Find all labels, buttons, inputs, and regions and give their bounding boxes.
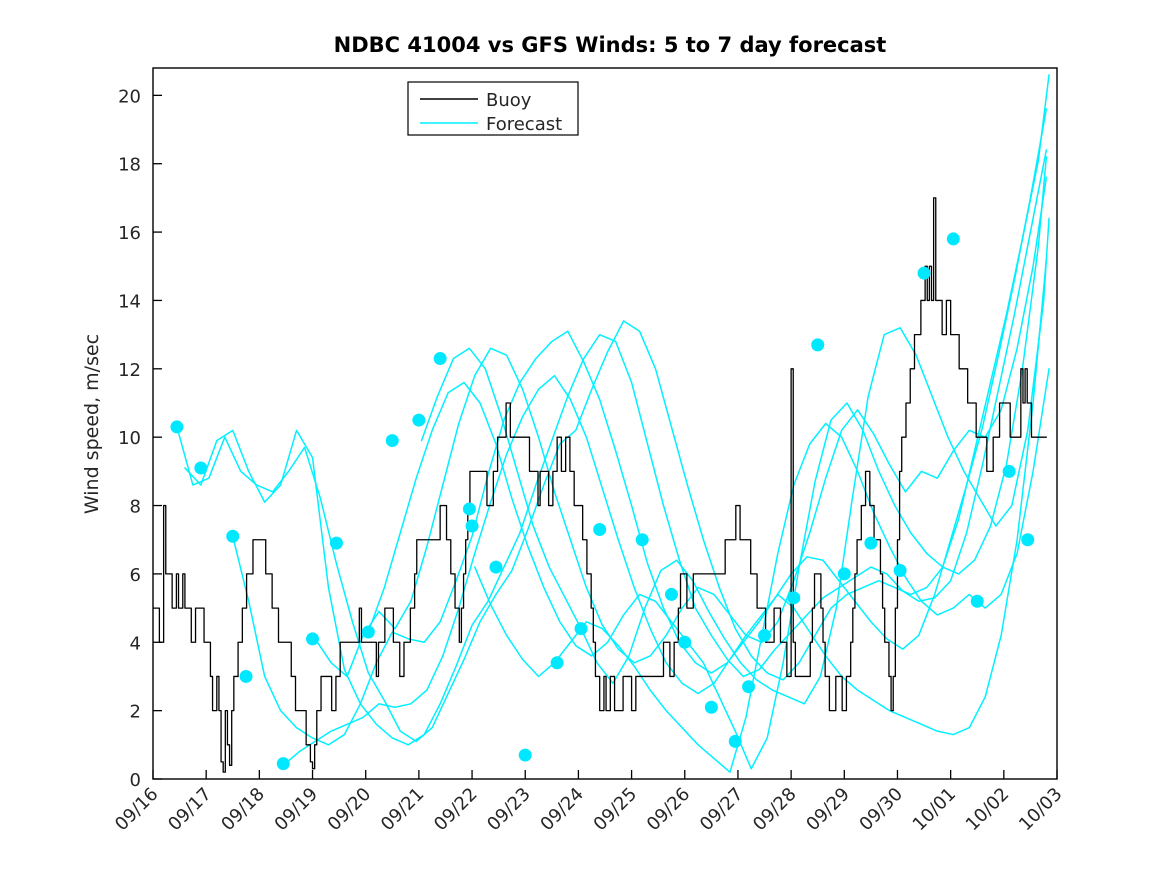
forecast-marker-point (838, 567, 851, 580)
y-tick-label: 14 (118, 291, 141, 312)
forecast-marker-point (386, 434, 399, 447)
forecast-marker-point (894, 564, 907, 577)
legend-label-forecast: Forecast (486, 114, 562, 135)
forecast-marker-point (665, 588, 678, 601)
figure-background (0, 0, 1167, 875)
forecast-marker-point (811, 338, 824, 351)
forecast-marker-point (519, 749, 532, 762)
forecast-marker-point (1021, 533, 1034, 546)
forecast-marker-point (971, 595, 984, 608)
forecast-marker-point (240, 670, 253, 683)
y-tick-label: 16 (118, 223, 141, 244)
forecast-marker-point (593, 523, 606, 536)
forecast-marker-point (758, 629, 771, 642)
forecast-marker-point (362, 626, 375, 639)
forecast-marker-point (277, 757, 290, 770)
forecast-marker-point (678, 636, 691, 649)
forecast-marker-point (194, 461, 207, 474)
forecast-marker-point (864, 537, 877, 550)
forecast-marker-point (330, 537, 343, 550)
y-tick-label: 4 (130, 633, 141, 654)
y-tick-label: 20 (118, 86, 141, 107)
page-title: NDBC 41004 vs GFS Winds: 5 to 7 day fore… (334, 33, 887, 57)
legend-label-buoy: Buoy (486, 90, 532, 111)
y-tick-label: 18 (118, 155, 141, 176)
chart-legend[interactable]: Buoy Forecast (408, 82, 578, 135)
forecast-marker-point (434, 352, 447, 365)
forecast-marker-point (463, 502, 476, 515)
forecast-marker-point (412, 414, 425, 427)
forecast-marker-point (729, 735, 742, 748)
forecast-marker-point (170, 420, 183, 433)
y-tick-label: 6 (130, 565, 141, 586)
forecast-marker-point (306, 632, 319, 645)
forecast-marker-point (575, 622, 588, 635)
forecast-marker-point (918, 267, 931, 280)
chart-figure: NDBC 41004 vs GFS Winds: 5 to 7 day fore… (0, 0, 1167, 875)
forecast-marker-point (551, 656, 564, 669)
y-axis-label: Wind speed, m/sec (81, 334, 103, 514)
forecast-marker-point (226, 530, 239, 543)
forecast-marker-point (466, 520, 479, 533)
forecast-marker-point (705, 701, 718, 714)
y-tick-label: 0 (130, 770, 141, 791)
y-tick-label: 8 (130, 497, 141, 518)
forecast-marker-point (636, 533, 649, 546)
forecast-marker-point (489, 561, 502, 574)
forecast-marker-point (947, 232, 960, 245)
y-tick-label: 2 (130, 702, 141, 723)
y-tick-label: 12 (118, 360, 141, 381)
forecast-marker-point (787, 591, 800, 604)
forecast-marker-point (1003, 465, 1016, 478)
wind-speed-chart: NDBC 41004 vs GFS Winds: 5 to 7 day fore… (0, 0, 1167, 875)
forecast-marker-point (742, 680, 755, 693)
y-tick-label: 10 (118, 428, 141, 449)
